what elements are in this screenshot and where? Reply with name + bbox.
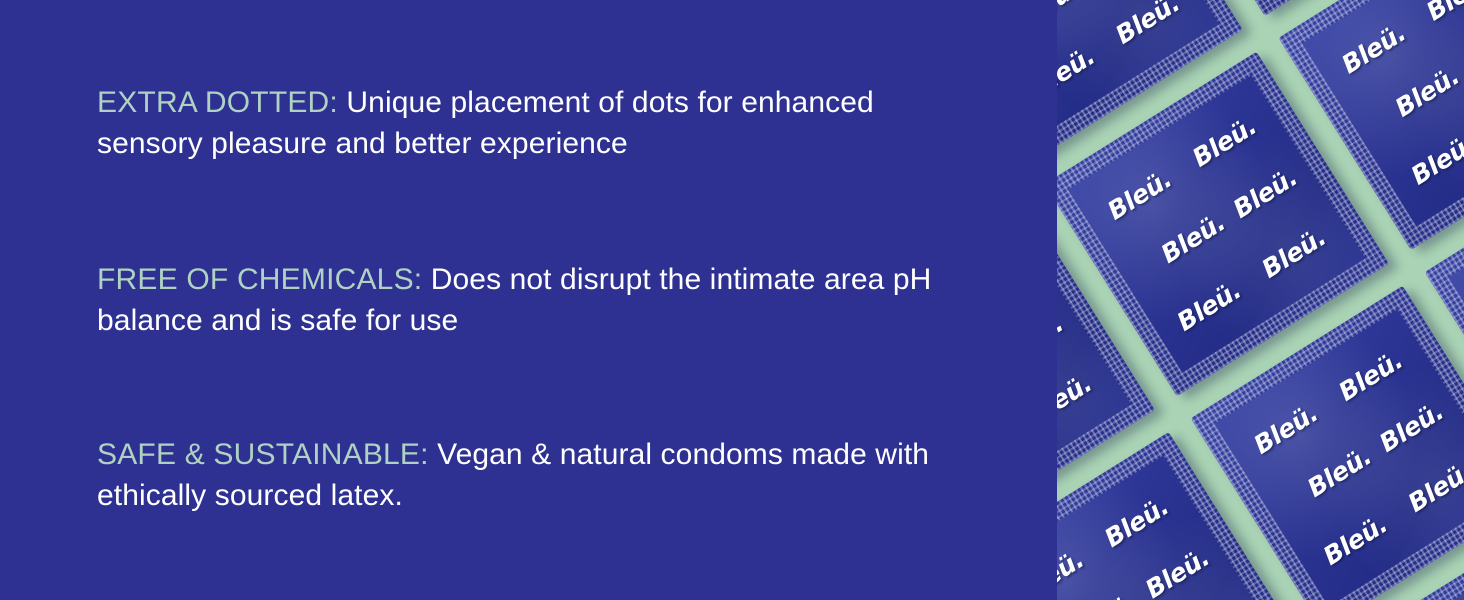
brand-logo-text: Bleü. — [1335, 347, 1407, 405]
brand-logo-text: Bleü. — [1053, 370, 1096, 428]
brand-logo-text: Bleü. — [1404, 458, 1464, 516]
condom-wrapper-pattern: Bleü.Bleü.Bleü.Bleü.Bleü.Bleü.Bleü.Bleü.… — [1053, 0, 1464, 600]
brand-logo-text: Bleü. — [1304, 444, 1376, 502]
feature-text: EXTRA DOTTED: Unique placement of dots f… — [97, 82, 977, 164]
feature-label-extra-dotted: EXTRA DOTTED: — [97, 86, 338, 119]
feature-label-free-of-chemicals: FREE OF CHEMICALS: — [97, 263, 422, 296]
brand-logo-text: Bleü. — [1422, 0, 1464, 25]
brand-logo-text: Bleü. — [1142, 545, 1214, 600]
wrapper-brand-row: Bleü.Bleü. — [1053, 0, 1196, 109]
brand-logo-text: Bleü. — [1053, 546, 1088, 600]
wrapper-brand-grid: Bleü.Bleü.Bleü.Bleü.Bleü.Bleü. — [1068, 75, 1366, 373]
brand-logo-text: Bleü. — [1338, 20, 1410, 78]
brand-logo-text: Bleü. — [1111, 0, 1183, 48]
wrapper-brand-row: Bleü.Bleü. — [1053, 362, 1109, 489]
brand-logo-text: Bleü. — [1407, 131, 1464, 189]
brand-logo-text: Bleü. — [1188, 113, 1260, 171]
feature-copy-panel: EXTRA DOTTED: Unique placement of dots f… — [0, 0, 1053, 600]
brand-logo-text: Bleü. — [1229, 165, 1301, 223]
feature-text: SAFE & SUSTAINABLE: Vegan & natural cond… — [97, 434, 977, 516]
brand-logo-text: Bleü. — [1250, 400, 1322, 458]
brand-logo-text: Bleü. — [1258, 224, 1330, 282]
brand-logo-text: Bleü. — [1104, 166, 1176, 224]
feature-text: FREE OF CHEMICALS: Does not disrupt the … — [97, 259, 977, 341]
feature-block-safe-sustainable: SAFE & SUSTAINABLE: Vegan & natural cond… — [97, 434, 977, 516]
brand-logo-text: Bleü. — [1053, 0, 1083, 33]
wrapper-brand-grid: Bleü.Bleü.Bleü.Bleü.Bleü.Bleü. — [1214, 309, 1464, 600]
brand-logo-text: Bleü. — [1319, 511, 1391, 569]
product-photo-panel: Bleü.Bleü.Bleü.Bleü.Bleü.Bleü.Bleü.Bleü.… — [1053, 0, 1464, 600]
feature-block-extra-dotted: EXTRA DOTTED: Unique placement of dots f… — [97, 82, 977, 164]
brand-logo-text: Bleü. — [1053, 43, 1099, 101]
brand-logo-text: Bleü. — [1376, 399, 1448, 457]
brand-logo-text: Bleü. — [1101, 493, 1173, 551]
feature-block-free-of-chemicals: FREE OF CHEMICALS: Does not disrupt the … — [97, 259, 977, 341]
brand-logo-text: Bleü. — [1391, 63, 1463, 121]
brand-logo-text: Bleü. — [1173, 277, 1245, 335]
brand-logo-text: Bleü. — [1157, 210, 1229, 268]
product-feature-banner: EXTRA DOTTED: Unique placement of dots f… — [0, 0, 1464, 600]
photo-edge-seam — [1053, 0, 1057, 600]
brand-logo-text: Bleü. — [1070, 590, 1142, 600]
feature-label-safe-sustainable: SAFE & SUSTAINABLE: — [97, 438, 429, 471]
